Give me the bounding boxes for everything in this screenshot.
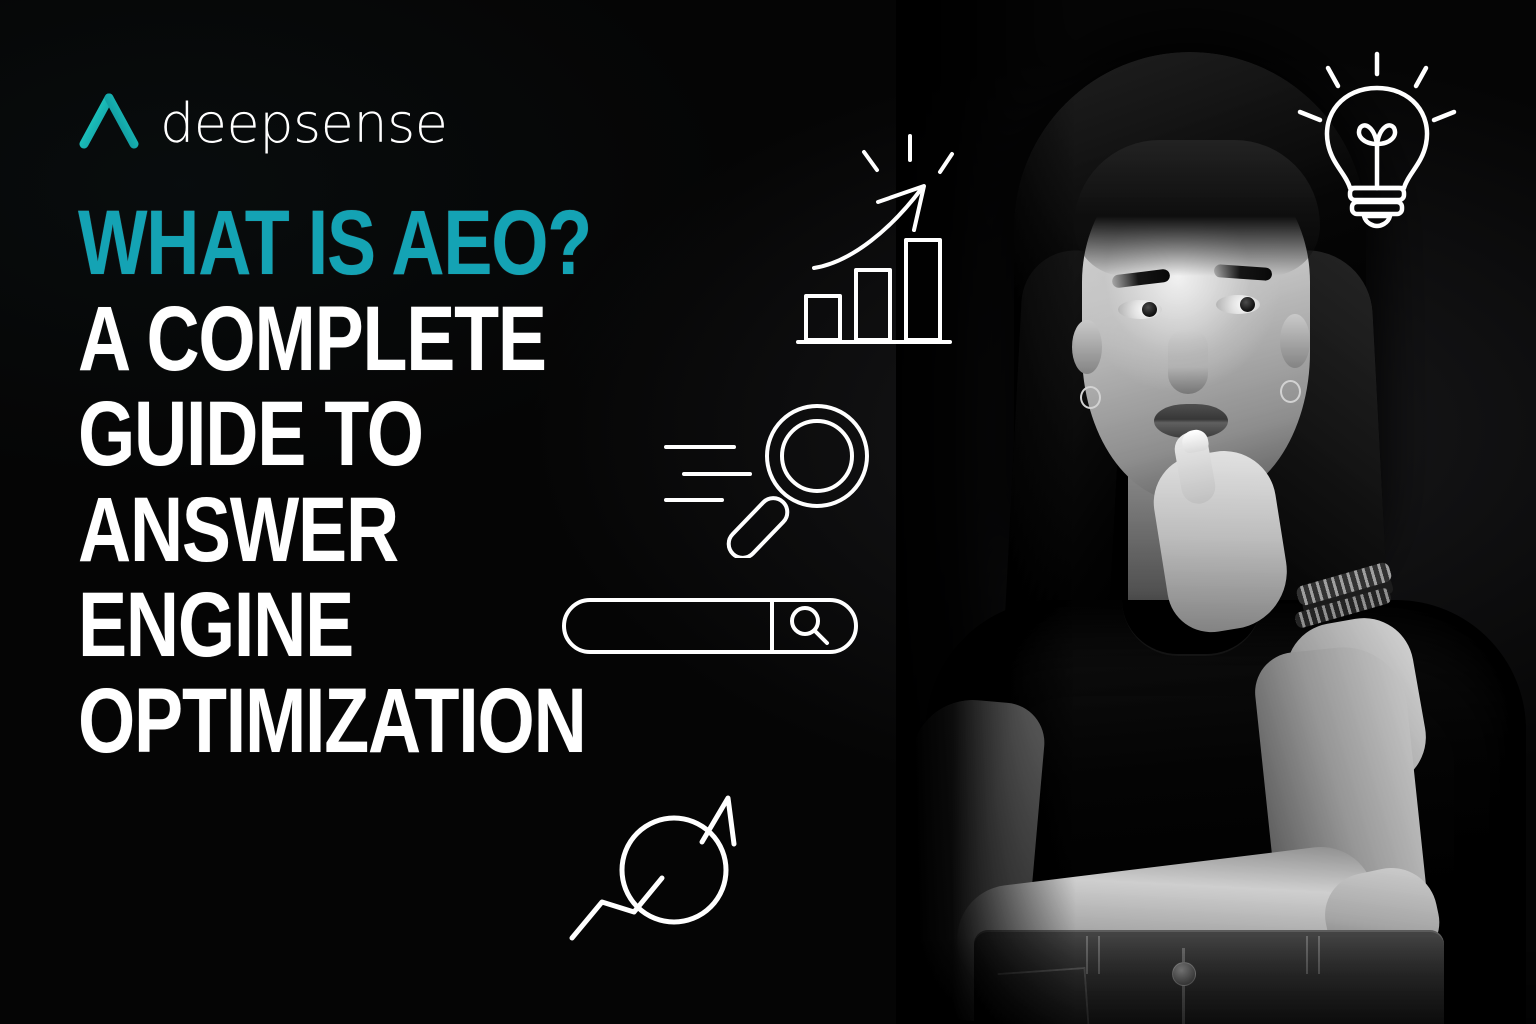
iris-right [1240,297,1255,312]
headline-line-3: GUIDE TO [78,389,750,480]
deepsense-triangle-logo-icon [72,88,146,160]
headline-line-6: OPTIMIZATION [78,676,750,767]
photo-bottom-fade [896,936,1536,1024]
growth-chart-icon [794,122,980,348]
trend-line-icon [562,782,768,958]
headline-line-4: ANSWER [78,485,750,576]
nose [1168,330,1208,394]
brand-logo[interactable]: deepsense [72,88,447,160]
eye-left [1118,300,1162,319]
search-bar-icon [560,592,860,660]
eye-right [1216,295,1260,314]
earring-right [1280,380,1301,403]
lightbulb-icon [1284,46,1470,232]
earring-left [1080,386,1101,409]
cover-graphic: deepsense WHAT IS AEO? A COMPLETE GUIDE … [0,0,1536,1024]
ear-left [1072,320,1102,374]
headline-line-1: WHAT IS AEO? [78,198,750,289]
iris-left [1142,302,1157,317]
headline-line-2: A COMPLETE [78,294,750,385]
magnifier-icon [652,392,888,558]
brand-wordmark: deepsense [160,97,447,151]
ear-right [1280,314,1310,368]
